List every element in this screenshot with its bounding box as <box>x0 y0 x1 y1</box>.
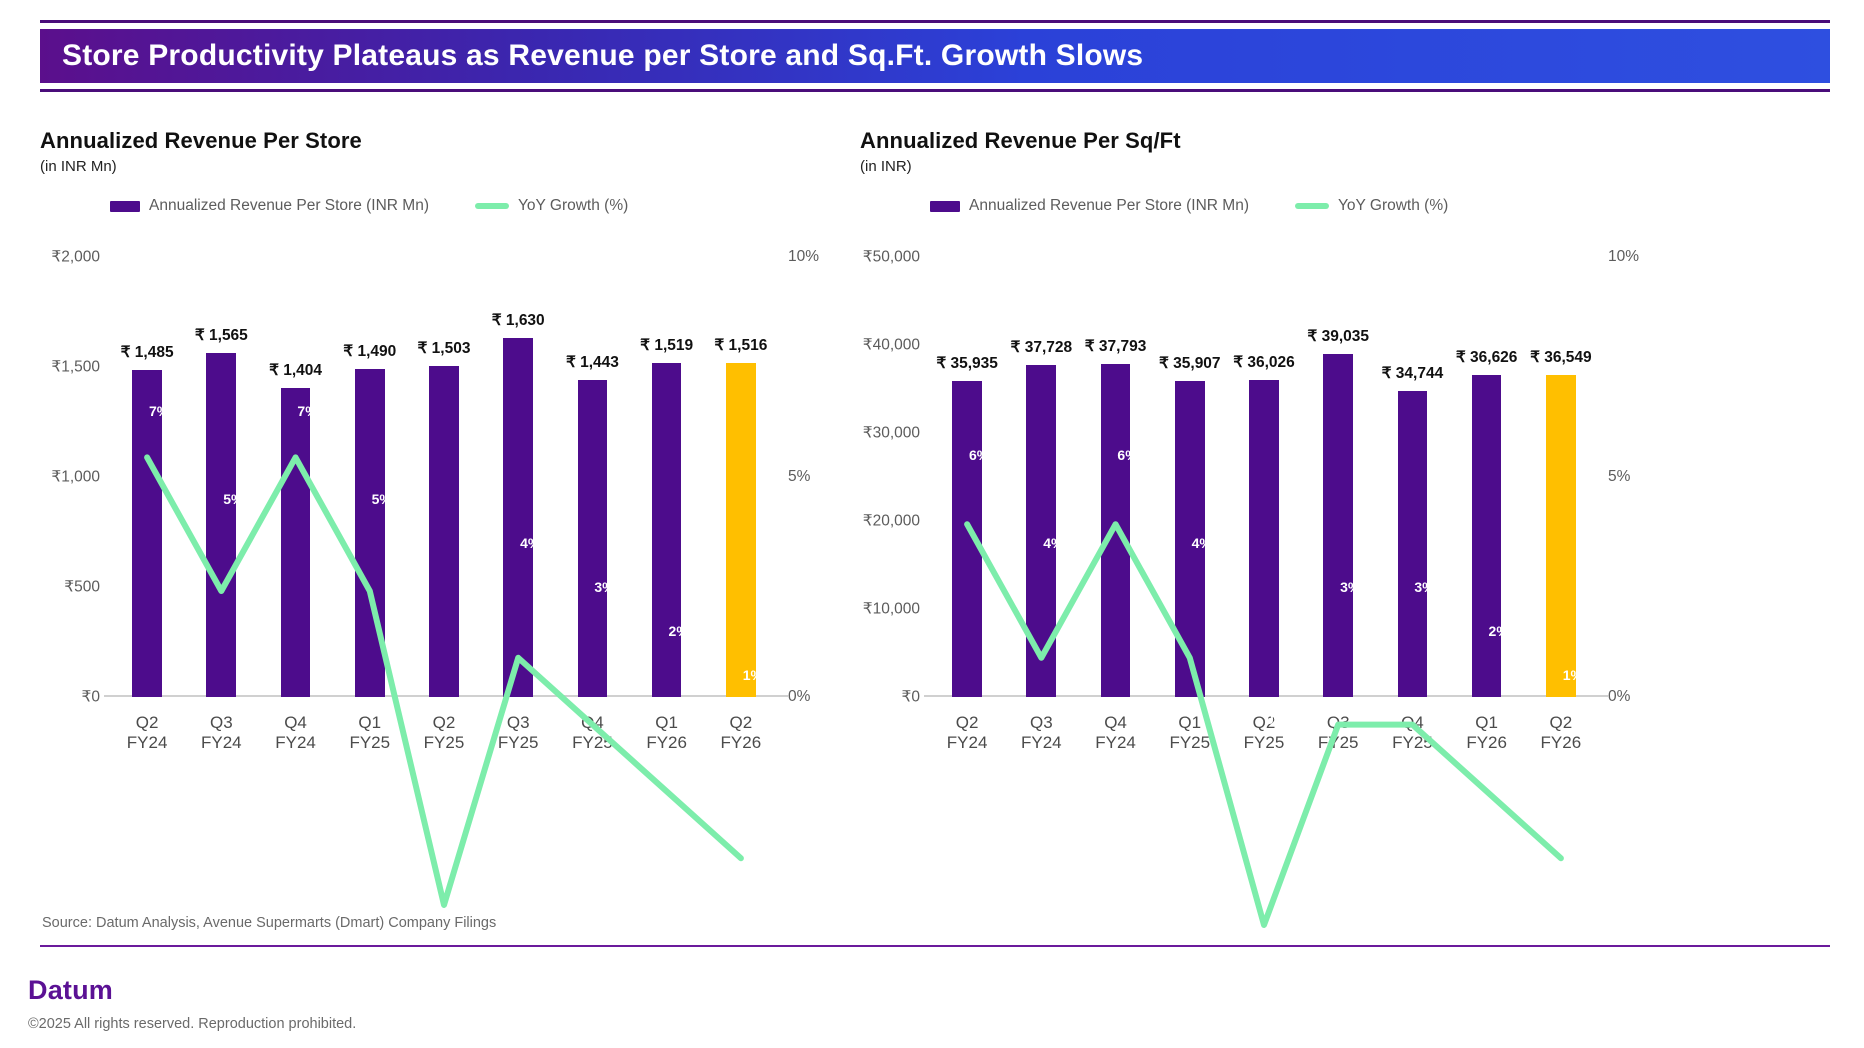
yoy-growth-label: 3% <box>594 579 614 595</box>
legend-line-swatch-icon <box>475 203 509 209</box>
chart-subtitle: (in INR) <box>860 158 1660 175</box>
y-axis-tick-right: 5% <box>788 468 810 486</box>
y-axis-tick-left: ₹40,000 <box>863 336 920 355</box>
y-axis-tick-right: 0% <box>1608 688 1630 706</box>
y-axis-tick-left: ₹1,000 <box>51 468 100 487</box>
yoy-growth-label: 7% <box>297 403 317 419</box>
yoy-growth-label: 4% <box>520 535 540 551</box>
legend-item-bar[interactable]: Annualized Revenue Per Store (INR Mn) <box>110 197 429 215</box>
legend-line-label: YoY Growth (%) <box>1338 197 1448 215</box>
y-axis-tick-left: ₹0 <box>82 688 100 707</box>
yoy-growth-label: 3% <box>1340 579 1360 595</box>
legend-item-line[interactable]: YoY Growth (%) <box>1295 197 1448 215</box>
yoy-growth-label: 7% <box>149 403 169 419</box>
yoy-growth-label: 5% <box>223 491 243 507</box>
yoy-growth-label: 0% <box>1266 711 1286 727</box>
yoy-growth-label: 4% <box>1043 535 1063 551</box>
legend-item-bar[interactable]: Annualized Revenue Per Store (INR Mn) <box>930 197 1249 215</box>
y-axis-tick-right: 10% <box>1608 248 1639 266</box>
y-axis-tick-left: ₹2,000 <box>51 248 100 267</box>
header-bottom-rule <box>40 89 1830 92</box>
legend-bar-swatch-icon <box>110 201 140 212</box>
chart-legend: Annualized Revenue Per Store (INR Mn) Yo… <box>40 197 840 215</box>
y-axis-tick-left: ₹1,500 <box>51 358 100 377</box>
y-axis-tick-left: ₹30,000 <box>863 424 920 443</box>
y-axis-tick-left: ₹20,000 <box>863 512 920 531</box>
footer-divider <box>40 945 1830 947</box>
chart-panel-revenue-per-sqft: Annualized Revenue Per Sq/Ft(in INR) Ann… <box>860 128 1660 808</box>
y-axis-tick-right: 10% <box>788 248 819 266</box>
chart-subtitle: (in INR Mn) <box>40 158 840 175</box>
y-axis-tick-left: ₹10,000 <box>863 600 920 619</box>
copyright-note: ©2025 All rights reserved. Reproduction … <box>28 1016 356 1032</box>
header-top-rule <box>40 20 1830 23</box>
y-axis-tick-left: ₹0 <box>902 688 920 707</box>
header: Store Productivity Plateaus as Revenue p… <box>40 20 1830 92</box>
yoy-growth-label: 3% <box>1414 579 1434 595</box>
plot-area-revenue-per-store: ₹0₹500₹1,000₹1,500₹2,0000%5%10% ₹ 1,485 … <box>40 227 840 807</box>
slide-root: Store Productivity Plateaus as Revenue p… <box>0 0 1864 1048</box>
yoy-growth-label: 6% <box>1117 447 1137 463</box>
chart-panel-revenue-per-store: Annualized Revenue Per Store(in INR Mn) … <box>40 128 840 808</box>
brand-logo: Datum <box>28 975 113 1006</box>
yoy-growth-label: 6% <box>969 447 989 463</box>
legend-line-label: YoY Growth (%) <box>518 197 628 215</box>
yoy-growth-label: 1% <box>1563 667 1583 683</box>
legend-bar-swatch-icon <box>930 201 960 212</box>
y-axis-tick-right: 0% <box>788 688 810 706</box>
chart-legend: Annualized Revenue Per Store (INR Mn) Yo… <box>860 197 1660 215</box>
legend-item-line[interactable]: YoY Growth (%) <box>475 197 628 215</box>
chart-title-revenue-per-sqft: Annualized Revenue Per Sq/Ft <box>860 128 1660 154</box>
yoy-growth-label: 4% <box>1192 535 1212 551</box>
yoy-growth-line <box>930 257 1598 925</box>
yoy-growth-label: 1% <box>446 698 466 714</box>
y-axis-tick-right: 5% <box>1608 468 1630 486</box>
yoy-growth-label: 1% <box>743 667 763 683</box>
page-title: Store Productivity Plateaus as Revenue p… <box>40 39 1143 73</box>
header-band: Store Productivity Plateaus as Revenue p… <box>40 29 1830 83</box>
chart-title-revenue-per-store: Annualized Revenue Per Store <box>40 128 840 154</box>
source-note: Source: Datum Analysis, Avenue Supermart… <box>42 915 496 931</box>
legend-bar-label: Annualized Revenue Per Store (INR Mn) <box>149 197 429 215</box>
yoy-growth-label: 5% <box>372 491 392 507</box>
plot-area-revenue-per-sqft: ₹0₹10,000₹20,000₹30,000₹40,000₹50,0000%5… <box>860 227 1660 807</box>
y-axis-tick-left: ₹50,000 <box>863 248 920 267</box>
legend-line-swatch-icon <box>1295 203 1329 209</box>
y-axis-tick-left: ₹500 <box>64 578 100 597</box>
yoy-growth-label: 2% <box>669 623 689 639</box>
legend-bar-label: Annualized Revenue Per Store (INR Mn) <box>969 197 1249 215</box>
yoy-growth-label: 2% <box>1489 623 1509 639</box>
yoy-growth-line <box>110 257 778 925</box>
